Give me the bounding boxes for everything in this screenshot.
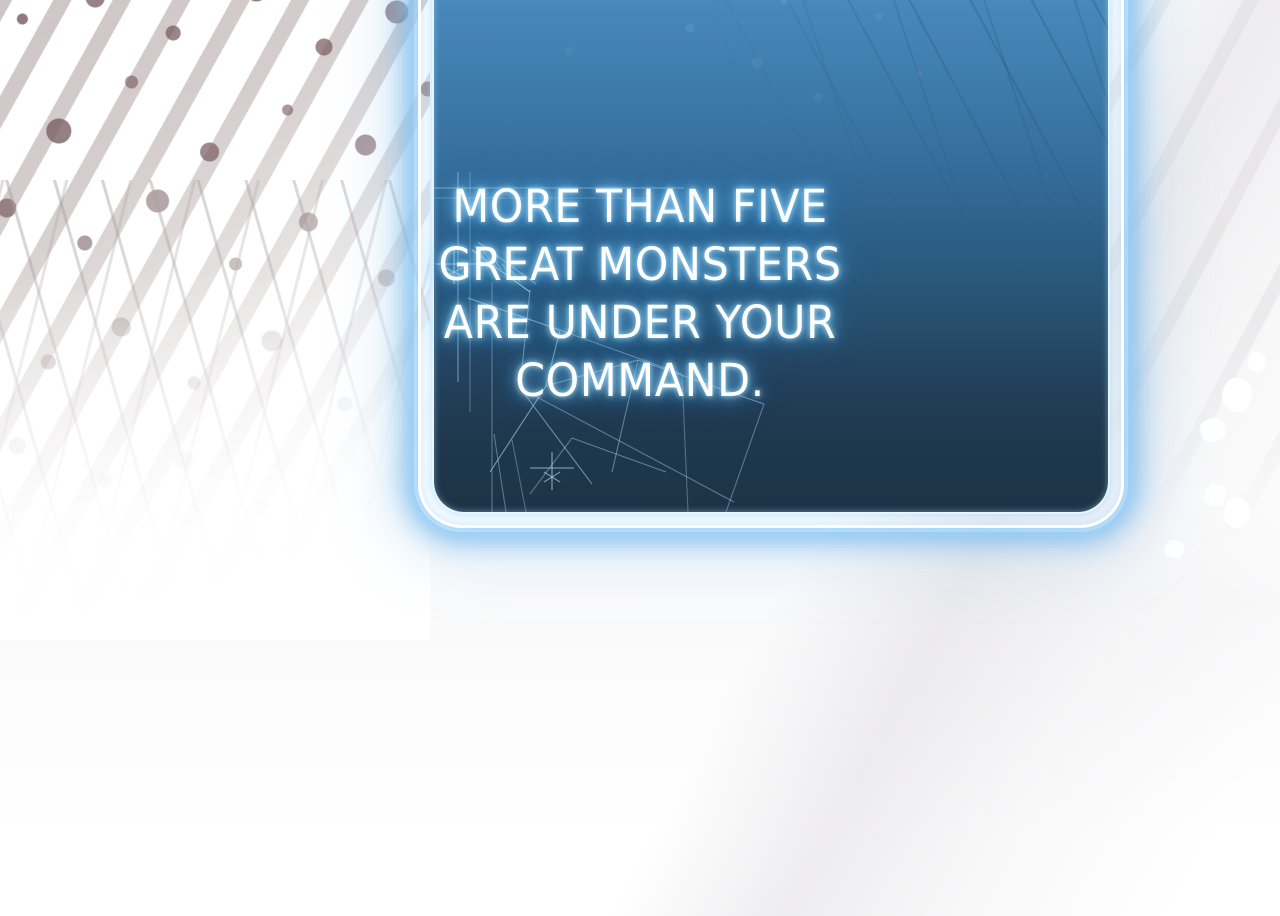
caption-text: MORE THAN FIVE GREAT MONSTERS ARE UNDER … [32,178,1248,410]
white-speck-blob [1164,540,1184,558]
caption-line: ARE UNDER YOUR [32,294,1248,352]
caption-line: GREAT MONSTERS [32,236,1248,294]
caption-line: COMMAND. [32,352,1248,410]
white-speck-blob [1200,418,1226,442]
white-speck-blob [1224,498,1250,528]
white-speck-blob [1204,484,1226,506]
comic-page: MORE THAN FIVE GREAT MONSTERS ARE UNDER … [0,0,1280,916]
white-speck-blob [1248,352,1266,372]
caption-line: MORE THAN FIVE [32,178,1248,236]
